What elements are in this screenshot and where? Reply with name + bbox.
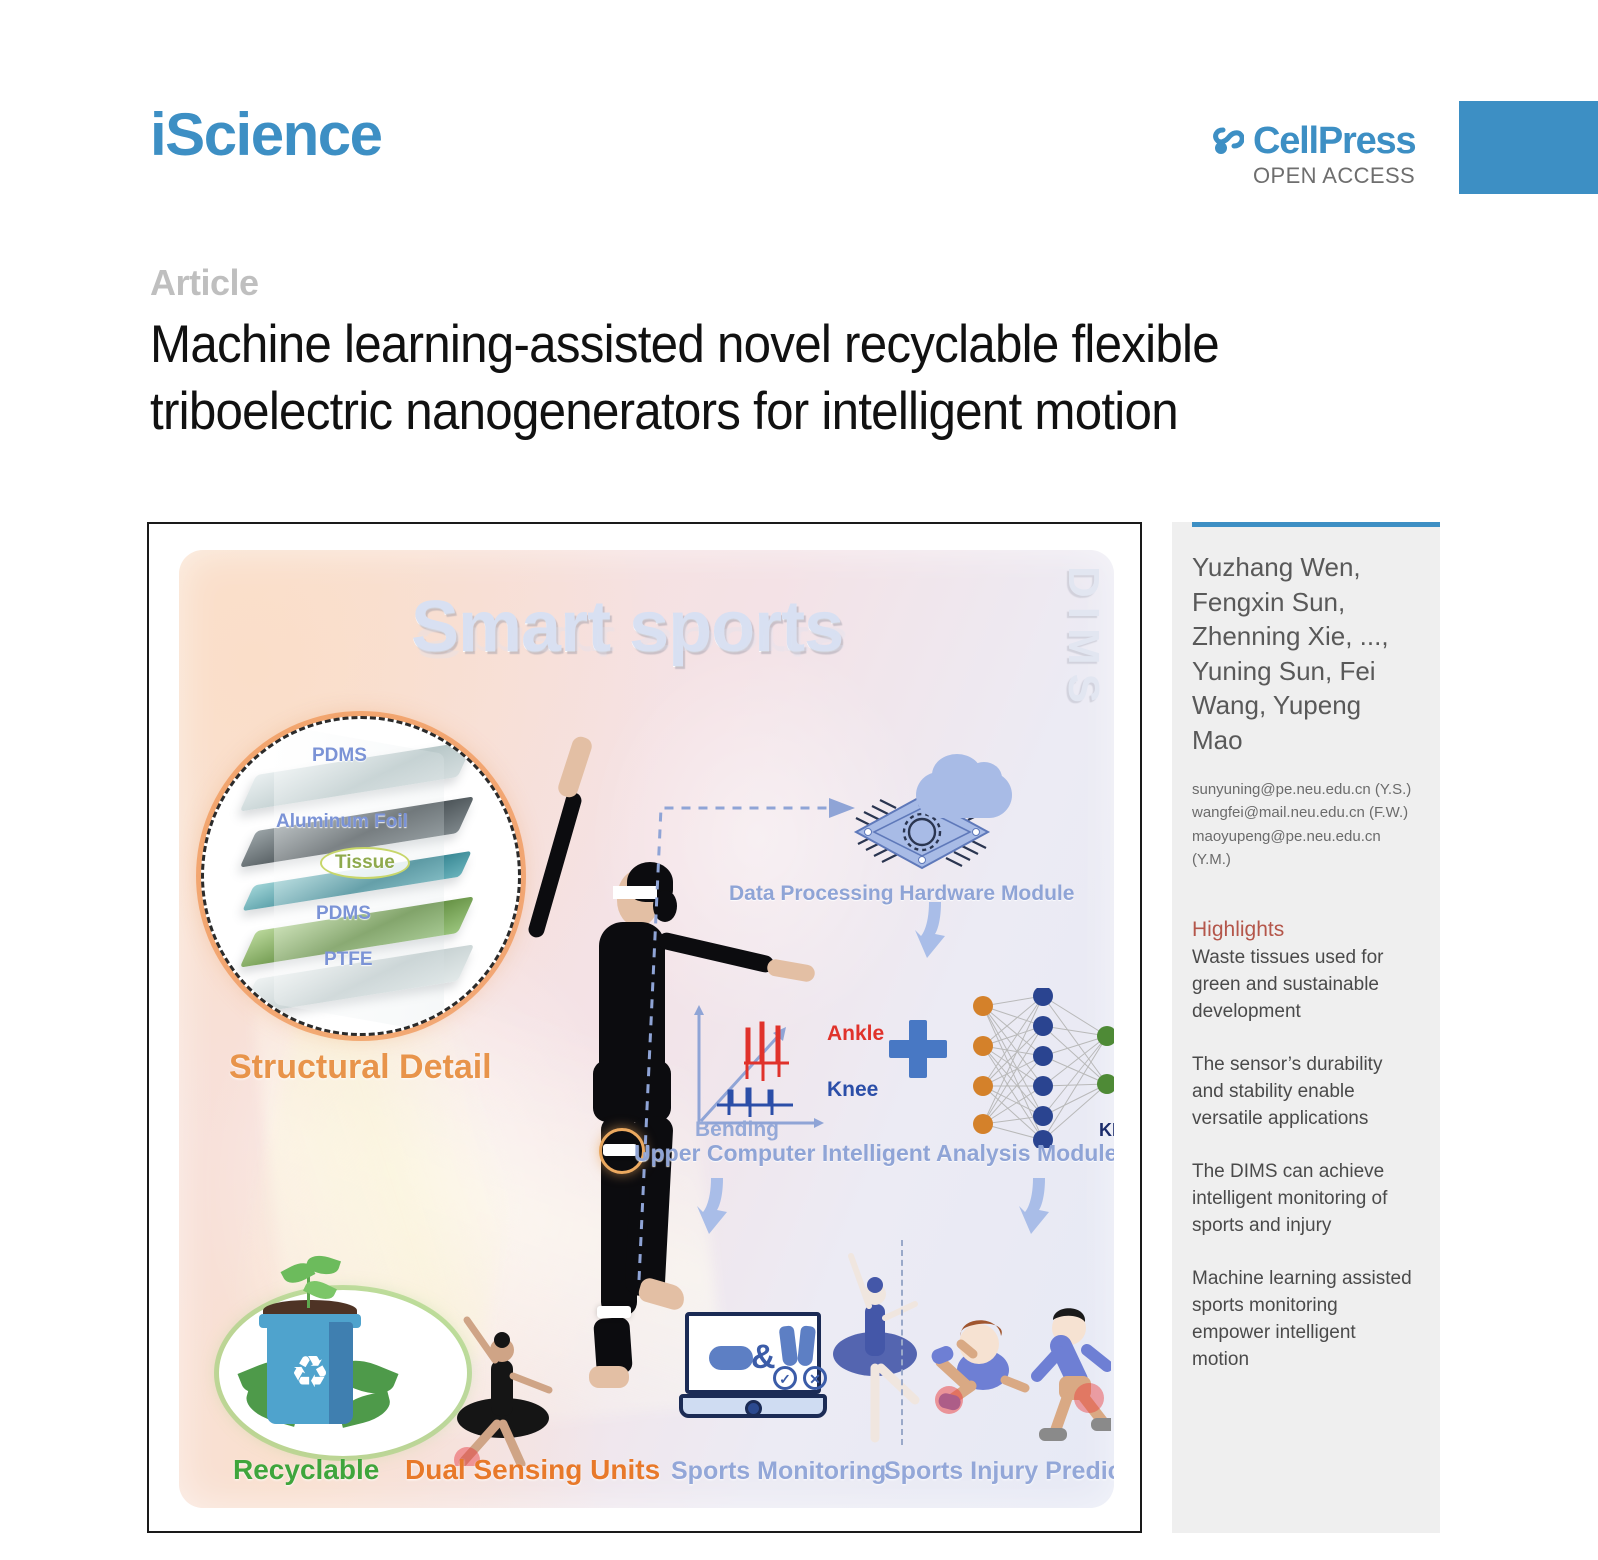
- gamepad-icon: [709, 1346, 753, 1370]
- dancer-pointe-shoe: [589, 1366, 629, 1388]
- structural-detail-caption: Structural Detail: [229, 1048, 492, 1087]
- laptop-screen: & ✓ ✕: [685, 1312, 821, 1394]
- dancer-foot: [637, 1276, 688, 1312]
- graphical-abstract-frame: Smart sports Smart sports DIMS PDMS Alum…: [147, 522, 1142, 1533]
- journal-logo: iScience: [150, 100, 382, 169]
- label-pdms-top: PDMS: [312, 745, 367, 767]
- pointe-shoe-icon-2: [797, 1325, 816, 1366]
- ballerina-silhouette-dark: [451, 1298, 561, 1466]
- falling-person: [929, 1320, 1025, 1414]
- arrow-down-icon-3: [1019, 1178, 1059, 1240]
- caption-sports-injury-prediction: Sports Injury Prediction: [884, 1457, 1114, 1486]
- dancer-left-hand: [556, 734, 594, 799]
- open-access-label: OPEN ACCESS: [1212, 163, 1437, 189]
- cloud-icon: [916, 772, 1012, 818]
- cross-badge-icon: ✕: [803, 1366, 827, 1390]
- caption-sports-monitoring: Sports Monitoring: [671, 1457, 886, 1486]
- hardware-module-label: Data Processing Hardware Module: [729, 882, 1074, 906]
- upper-computer-module-label: Upper Computer Intelligent Analysis Modu…: [634, 1140, 1114, 1167]
- brand-color-block: [1459, 101, 1598, 194]
- highlights-heading: Highlights: [1192, 918, 1284, 942]
- injury-prediction-figures: [921, 1292, 1111, 1442]
- dancer-left-arm: [527, 791, 584, 940]
- label-ptfe: PTFE: [324, 949, 373, 971]
- series-label-knee: Knee: [827, 1078, 878, 1102]
- dancer-right-hand: [766, 958, 816, 983]
- dancer-right-arm: [657, 931, 776, 974]
- section-divider-dashed: [901, 1240, 903, 1445]
- paper-cover-page: iScience CellPress OPEN ACCESS Article M…: [0, 0, 1598, 1560]
- list-item: Waste tissues used for green and sustain…: [1192, 945, 1416, 1026]
- check-badge-icon: ✓: [773, 1366, 797, 1390]
- highlights-list: Waste tissues used for green and sustain…: [1192, 945, 1416, 1400]
- running-person: [1037, 1308, 1111, 1441]
- title-line-2: triboelectric nanogenerators for intelli…: [150, 379, 1350, 446]
- label-tissue: Tissue: [320, 847, 410, 879]
- sidebar-top-rule: [1192, 522, 1440, 527]
- arrow-down-icon-1: [915, 902, 955, 964]
- wordart-reflection: Smart sports: [415, 617, 847, 668]
- pointe-shoe-icon-1: [779, 1325, 799, 1367]
- caption-dual-sensing-units: Dual Sensing Units: [405, 1454, 660, 1486]
- hardware-chip-graphic: [834, 780, 1014, 890]
- structural-detail-circle: PDMS Aluminum Foil Tissue PDMS PTFE: [201, 716, 521, 1036]
- caption-recyclable: Recyclable: [233, 1454, 379, 1486]
- classifier-label-knn: KNN: [1099, 1120, 1114, 1141]
- plus-icon: [889, 1020, 947, 1078]
- page-title: Machine learning-assisted novel recyclab…: [150, 312, 1350, 446]
- vertical-label-dims: DIMS: [1058, 566, 1108, 712]
- bending-signal-plot: [689, 1005, 824, 1130]
- series-label-ankle: Ankle: [827, 1022, 884, 1046]
- author-list: Yuzhang Wen, Fengxin Sun, Zhenning Xie, …: [1192, 550, 1407, 757]
- graphical-abstract-canvas: Smart sports Smart sports DIMS PDMS Alum…: [179, 550, 1114, 1508]
- axis-label-bending: Bending: [695, 1118, 779, 1142]
- cellpress-mark-icon: [1212, 126, 1244, 156]
- cellpress-wordmark: CellPress: [1253, 122, 1415, 160]
- ankle-sensor-tag: [597, 1306, 631, 1318]
- recycle-symbol-icon: ♻: [287, 1350, 333, 1396]
- label-pdms-bottom: PDMS: [316, 903, 371, 925]
- laptop-hinge-dot: [745, 1400, 762, 1417]
- ballerina-illustration-blue: [829, 1222, 921, 1448]
- knee-sensor-tag: [603, 1144, 637, 1156]
- label-aluminum-foil: Aluminum Foil: [276, 811, 408, 833]
- dancer-hips: [593, 1060, 671, 1122]
- arrow-down-icon-2: [697, 1178, 737, 1240]
- dancer-torso: [599, 922, 665, 1072]
- article-type-kicker: Article: [150, 262, 259, 304]
- list-item: Machine learning assisted sports monitor…: [1192, 1266, 1416, 1374]
- laptop-graphic: & ✓ ✕: [679, 1312, 827, 1418]
- list-item: The sensor’s durability and stability en…: [1192, 1052, 1416, 1133]
- privacy-bar: [613, 886, 657, 899]
- list-item: The DIMS can achieve intelligent monitor…: [1192, 1159, 1416, 1240]
- cellpress-logo-block: CellPress OPEN ACCESS: [1212, 122, 1437, 189]
- ampersand-label: &: [751, 1338, 776, 1377]
- sheet-fold-overlay: [274, 724, 444, 1034]
- title-line-1: Machine learning-assisted novel recyclab…: [150, 312, 1350, 379]
- corresponding-emails: sunyuning@pe.neu.edu.cn (Y.S.) wangfei@m…: [1192, 778, 1420, 871]
- neural-network-diagram: [969, 988, 1114, 1148]
